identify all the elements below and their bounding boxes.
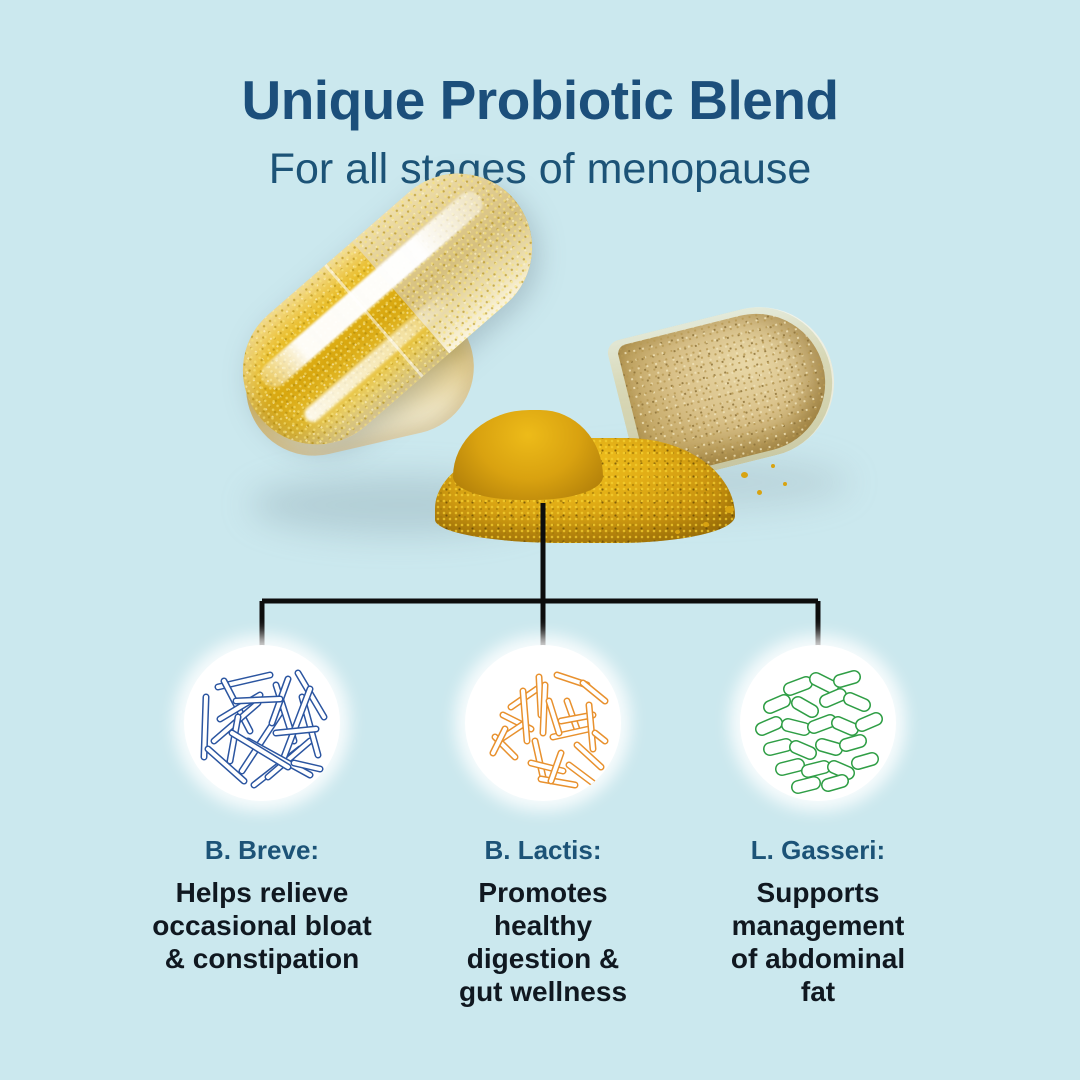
strain-name: B. Breve:	[122, 801, 402, 866]
strain-card-l-gasseri: L. Gasseri: Supports management of abdom…	[678, 645, 958, 1008]
bacteria-bubble	[740, 645, 896, 801]
bacteria-rods-orange-icon	[465, 645, 621, 801]
strain-name: L. Gasseri:	[678, 801, 958, 866]
bacteria-bubble	[184, 645, 340, 801]
strain-name: B. Lactis:	[403, 801, 683, 866]
strain-card-b-lactis: B. Lactis: Promotes healthy digestion & …	[403, 645, 683, 1008]
probiotic-blend-infographic: Unique Probiotic Blend For all stages of…	[0, 0, 1080, 1080]
bacteria-capsules-green-icon	[740, 645, 896, 801]
strain-card-b-breve: B. Breve: Helps relieve occasional bloat…	[122, 645, 402, 975]
strain-description: Promotes healthy digestion & gut wellnes…	[403, 866, 683, 1008]
bacteria-rods-blue-icon	[184, 645, 340, 801]
bacteria-bubble	[465, 645, 621, 801]
strain-description: Helps relieve occasional bloat & constip…	[122, 866, 402, 975]
strain-description: Supports management of abdominal fat	[678, 866, 958, 1008]
